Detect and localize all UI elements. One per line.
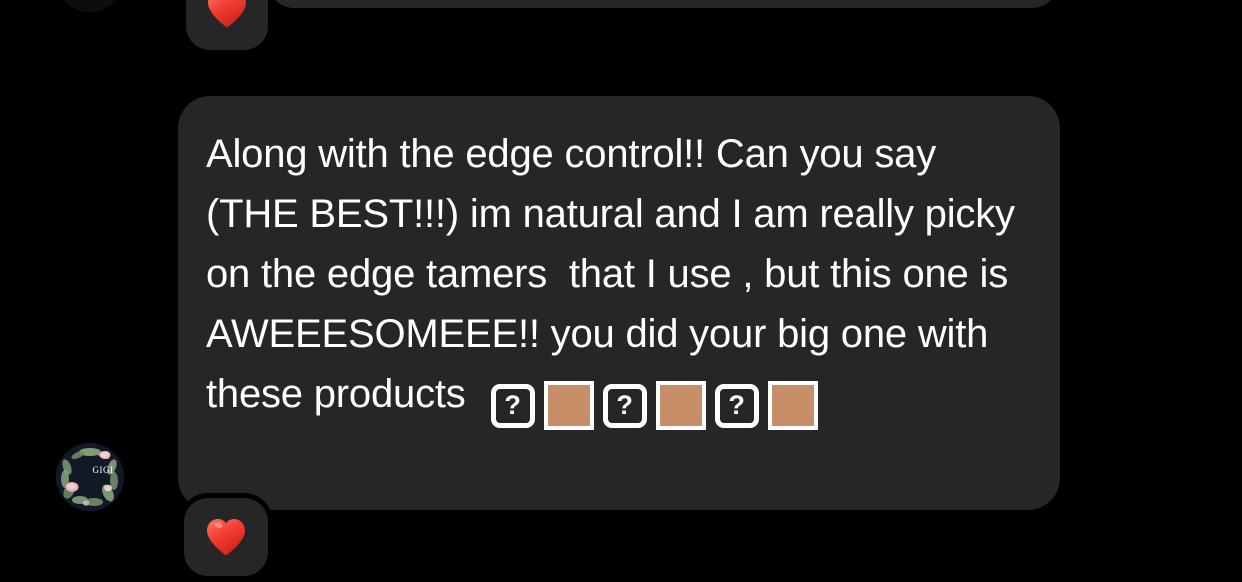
previous-message-bubble[interactable] [268, 0, 1058, 8]
avatar[interactable]: GIGI [56, 443, 124, 511]
emoji-swatch-3 [768, 381, 818, 430]
message-thread: GIGI Along with the edge control!! Can y… [0, 0, 1242, 582]
heart-icon [207, 0, 247, 28]
tofu-box-3: ? [715, 384, 759, 428]
avatar-image: GIGI [56, 443, 124, 511]
message-bubble[interactable]: Along with the edge control!! Can you sa… [178, 96, 1060, 510]
avatar-monogram: GIGI [93, 465, 114, 475]
previous-avatar[interactable] [56, 0, 124, 12]
emoji-swatch-1 [544, 381, 594, 430]
heart-reaction-bottom[interactable] [184, 498, 268, 576]
emoji-swatch-2 [656, 381, 706, 430]
tofu-box-2: ? [603, 384, 647, 428]
message-text: Along with the edge control!! Can you sa… [206, 132, 1026, 416]
heart-icon [206, 518, 246, 556]
message-body: Along with the edge control!! Can you sa… [206, 124, 1026, 430]
tofu-box-1: ? [491, 384, 535, 428]
missing-glyph-row: ? ? ? [491, 381, 818, 430]
heart-reaction-top[interactable] [186, 0, 268, 50]
